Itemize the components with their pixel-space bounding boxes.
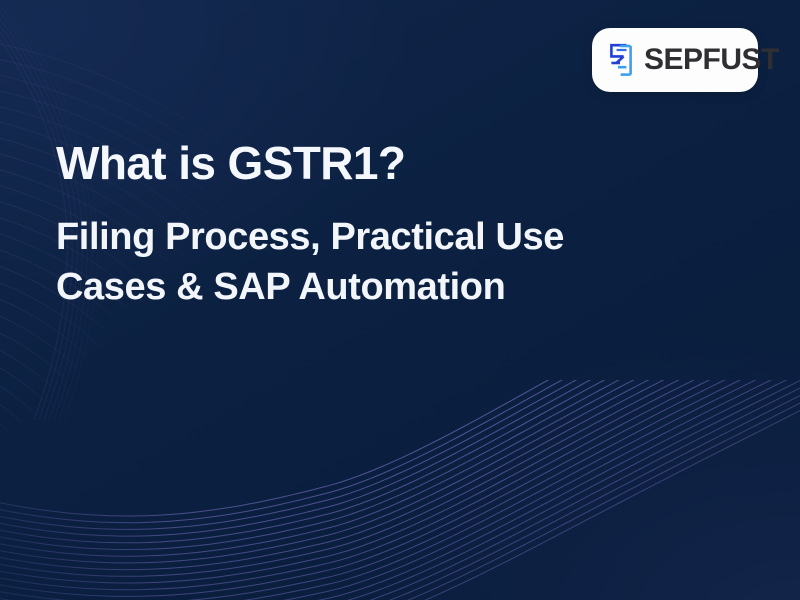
title-block: What is GSTR1? Filing Process, Practical… bbox=[56, 138, 756, 313]
title-card: SEPFUST What is GSTR1? Filing Process, P… bbox=[0, 0, 800, 600]
brand-logo-badge[interactable]: SEPFUST bbox=[592, 28, 758, 92]
subtitle-line-2: Cases & SAP Automation bbox=[56, 262, 756, 313]
brand-wordmark: SEPFUST bbox=[644, 45, 779, 75]
subtitle-line-1: Filing Process, Practical Use bbox=[56, 212, 756, 263]
sepfust-logo-mark-icon bbox=[606, 40, 640, 80]
page-title: What is GSTR1? bbox=[56, 138, 756, 190]
